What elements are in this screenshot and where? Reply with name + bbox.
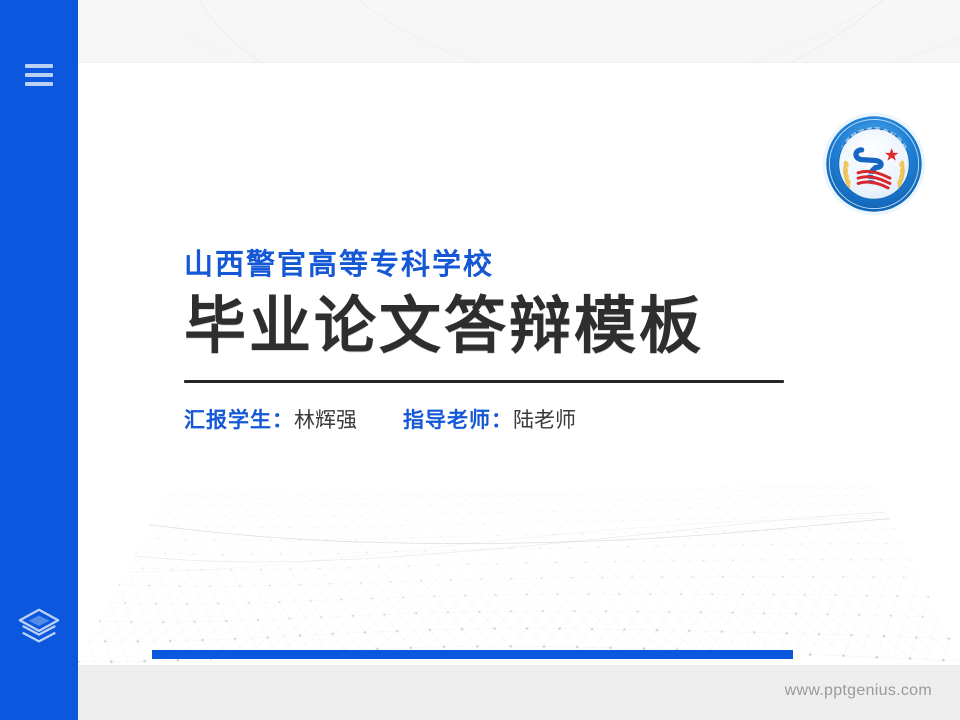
advisor-label: 指导老师：: [403, 409, 513, 432]
page-title: 毕业论文答辩模板: [184, 291, 884, 362]
hamburger-bar-3: [25, 82, 53, 86]
advisor-name: 陆老师: [513, 409, 576, 432]
hamburger-bar-1: [25, 64, 53, 68]
mesh-wave-graphic: [78, 475, 960, 665]
hamburger-menu-icon[interactable]: [22, 60, 56, 90]
hamburger-bar-2: [25, 73, 53, 77]
title-block: 山西警官高等专科学校 毕业论文答辩模板 汇报学生：林辉强指导老师：陆老师: [184, 248, 884, 434]
presentation-page: 山西警官高等专科学校 SHANXI POLICE ACADEMY: [0, 0, 960, 720]
title-divider: [184, 380, 784, 383]
credits-line: 汇报学生：林辉强指导老师：陆老师: [184, 407, 884, 434]
student-name: 林辉强: [294, 409, 357, 432]
student-label: 汇报学生：: [184, 409, 294, 432]
layers-stack-icon[interactable]: [16, 604, 62, 650]
shanxi-police-academy-emblem: 山西警官高等专科学校 SHANXI POLICE ACADEMY: [821, 111, 927, 217]
left-rail: [0, 0, 78, 720]
school-name: 山西警官高等专科学校: [184, 248, 884, 283]
slide-canvas: 山西警官高等专科学校 SHANXI POLICE ACADEMY: [78, 63, 960, 665]
site-watermark: www.pptgenius.com: [785, 682, 932, 700]
slide-accent-bar: [152, 650, 793, 659]
